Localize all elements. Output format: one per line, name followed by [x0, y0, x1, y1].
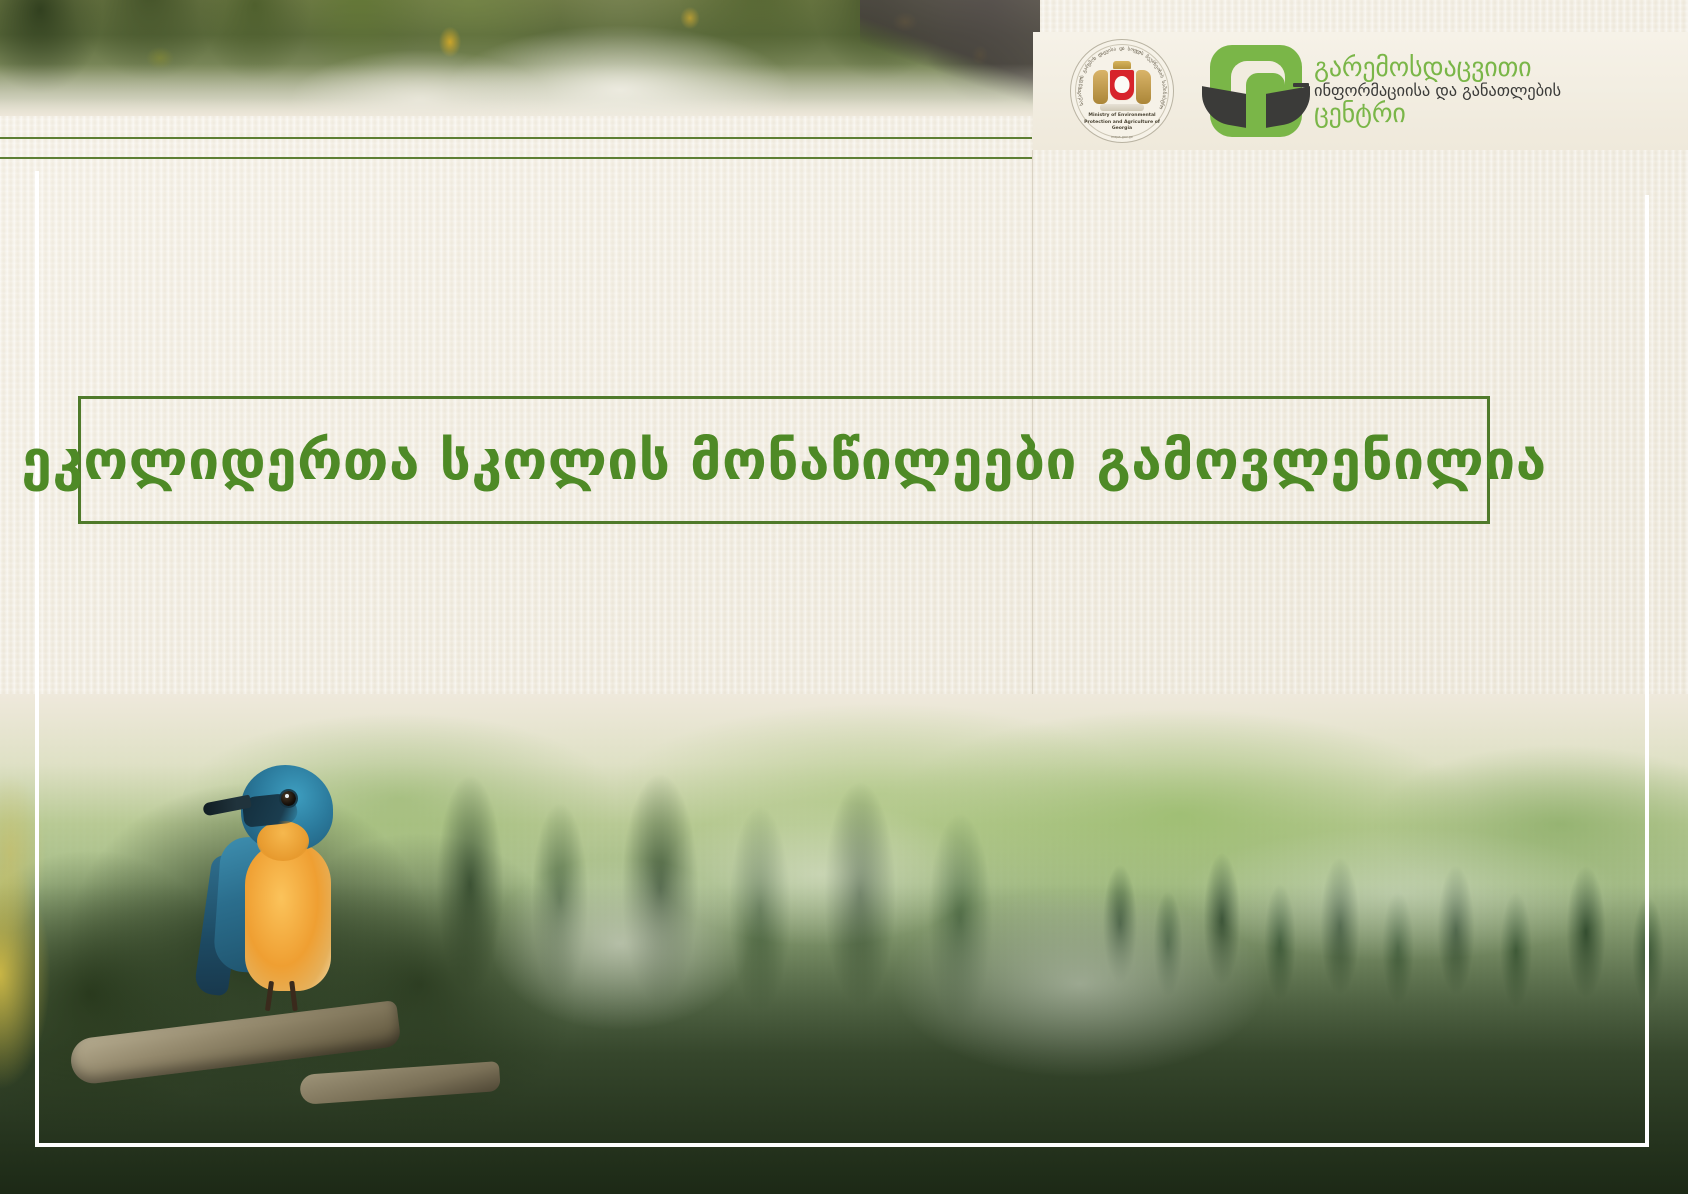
bird-icon — [195, 759, 360, 1014]
book-page-left — [1202, 86, 1246, 128]
frame-border-right — [1645, 195, 1649, 1147]
logo-wordmark: გარემოსდაცვითი ინფორმაციისა და განათლები… — [1314, 55, 1561, 128]
headline-box: ეკოლიდერთა სკოლის მონაწილეები გამოვლენილ… — [78, 396, 1490, 524]
environmental-center-logo: გარემოსდაცვითი ინფორმაციისა და განათლები… — [1210, 45, 1561, 137]
crest-shield — [1109, 69, 1135, 101]
logo-bars-icon — [1293, 83, 1309, 99]
seal-url: mepa.gov.ge — [1071, 135, 1173, 139]
bird-legs — [261, 981, 313, 1017]
bird-breast — [245, 841, 331, 991]
banner-mist-overlay — [0, 0, 1040, 116]
state-emblem-icon: საქართველოს გარემოს დაცვისა და სოფლის მე… — [1070, 39, 1174, 143]
divider-rule-top — [0, 137, 1032, 139]
logo-bar: საქართველოს გარემოს დაცვისა და სოფლის მე… — [1033, 32, 1688, 150]
logo-line-3: ცენტრი — [1314, 101, 1561, 128]
logo-line-1: გარემოსდაცვითი — [1314, 55, 1561, 82]
page-title: ეკოლიდერთა სკოლის მონაწილეები გამოვლენილ… — [21, 433, 1546, 488]
bird-eye — [281, 791, 296, 806]
crest-lion-right — [1136, 70, 1151, 104]
seal-ministry-name-en: Ministry of Environmental Protection and… — [1071, 113, 1173, 132]
crest-lion-left — [1093, 70, 1108, 104]
bottom-forest-image — [0, 694, 1688, 1194]
frame-border-bottom — [35, 1143, 1649, 1147]
crest-shape — [1093, 61, 1151, 115]
book-spine — [1252, 95, 1261, 129]
bird-throat — [257, 821, 309, 861]
crest-crown — [1113, 61, 1131, 69]
poster-canvas: საქართველოს გარემოს დაცვისა და სოფლის მე… — [0, 0, 1688, 1194]
crest-saint-george — [1115, 76, 1130, 93]
open-book-icon — [1210, 45, 1302, 137]
logo-line-2: ინფორმაციისა და განათლების — [1314, 83, 1561, 100]
frame-border-left — [35, 171, 39, 1147]
top-forest-banner-image — [0, 0, 1040, 116]
divider-rule-bottom — [0, 157, 1032, 159]
crest-ribbon — [1100, 104, 1144, 111]
